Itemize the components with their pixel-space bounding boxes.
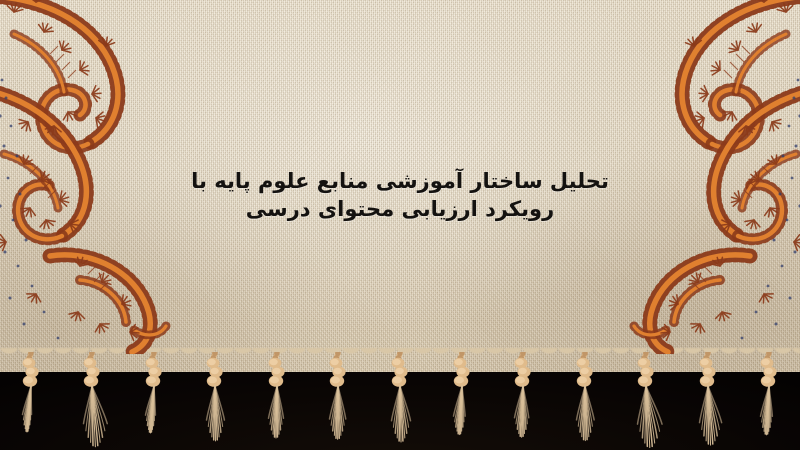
slide-title-line-2: رویکرد ارزیابی محتوای درسی: [0, 196, 800, 224]
tassel: [688, 352, 728, 448]
slide-title: تحلیل ساختار آموزشی منابع علوم پایه با ر…: [0, 168, 800, 223]
tassel: [442, 352, 482, 448]
tassel: [318, 352, 358, 448]
tassel: [195, 352, 235, 448]
title-slide: تحلیل ساختار آموزشی منابع علوم پایه با ر…: [0, 0, 800, 450]
tassel: [749, 352, 789, 448]
tassel: [257, 352, 297, 448]
tassel: [626, 352, 666, 448]
tassel-fringe: [0, 352, 800, 450]
tassel: [380, 352, 420, 448]
tassel: [11, 352, 51, 448]
slide-title-line-1: تحلیل ساختار آموزشی منابع علوم پایه با: [191, 169, 609, 193]
tassel: [134, 352, 174, 448]
tassel: [565, 352, 605, 448]
tassel: [72, 352, 112, 448]
tassel: [503, 352, 543, 448]
